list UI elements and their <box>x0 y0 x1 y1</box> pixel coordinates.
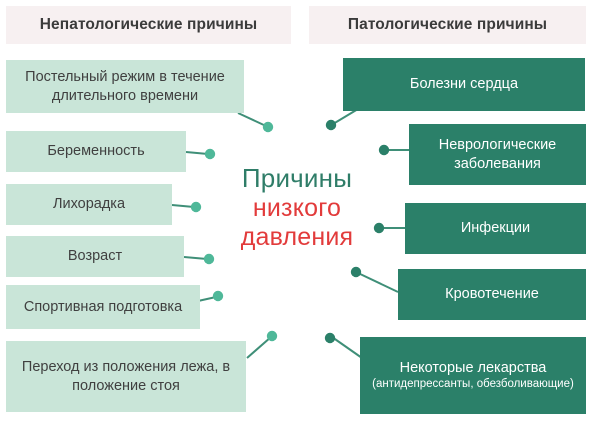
header-nonpathological: Непатологические причины <box>6 6 291 44</box>
nonpathological-box-4[interactable]: Возраст <box>6 236 184 277</box>
center-title-line3: давления <box>218 223 376 253</box>
nonpathological-box-2[interactable]: Беременность <box>6 131 186 172</box>
center-title-line1: Причины <box>218 163 376 194</box>
nonpathological-box-5[interactable]: Спортивная подготовка <box>6 285 200 329</box>
pathological-box-5[interactable]: Некоторые лекарства (антидепрессанты, об… <box>360 337 586 414</box>
pathological-box-3[interactable]: Инфекции <box>405 203 586 254</box>
nonpathological-label-2: Беременность <box>47 142 144 160</box>
center-title-line2: низкого <box>218 194 376 224</box>
pathological-label-3: Инфекции <box>461 219 530 237</box>
pathological-label-1: Болезни сердца <box>410 75 518 93</box>
nonpathological-box-3[interactable]: Лихорадка <box>6 184 172 225</box>
infographic-canvas: Непатологические причины Патологические … <box>0 0 600 421</box>
nonpathological-label-6: Переход из положения лежа, в положение с… <box>14 358 238 394</box>
nonpathological-box-1[interactable]: Постельный режим в течение длительного в… <box>6 60 244 113</box>
pathological-label-5: Некоторые лекарства <box>372 359 574 377</box>
center-title: Причины низкого давления <box>218 163 376 253</box>
pathological-label-2: Неврологические заболевания <box>417 136 578 172</box>
pathological-label-4: Кровотечение <box>445 285 539 303</box>
pathological-sublabel-5: (антидепрессанты, обезболивающие) <box>372 377 574 392</box>
nonpathological-label-3: Лихорадка <box>53 195 125 213</box>
nonpathological-label-1: Постельный режим в течение длительного в… <box>14 68 236 104</box>
nonpathological-label-4: Возраст <box>68 247 122 265</box>
header-pathological: Патологические причины <box>309 6 586 44</box>
pathological-box-1[interactable]: Болезни сердца <box>343 58 585 111</box>
pathological-box-4[interactable]: Кровотечение <box>398 269 586 320</box>
nonpathological-label-5: Спортивная подготовка <box>24 298 182 316</box>
pathological-box-2[interactable]: Неврологические заболевания <box>409 124 586 185</box>
nonpathological-box-6[interactable]: Переход из положения лежа, в положение с… <box>6 341 246 412</box>
